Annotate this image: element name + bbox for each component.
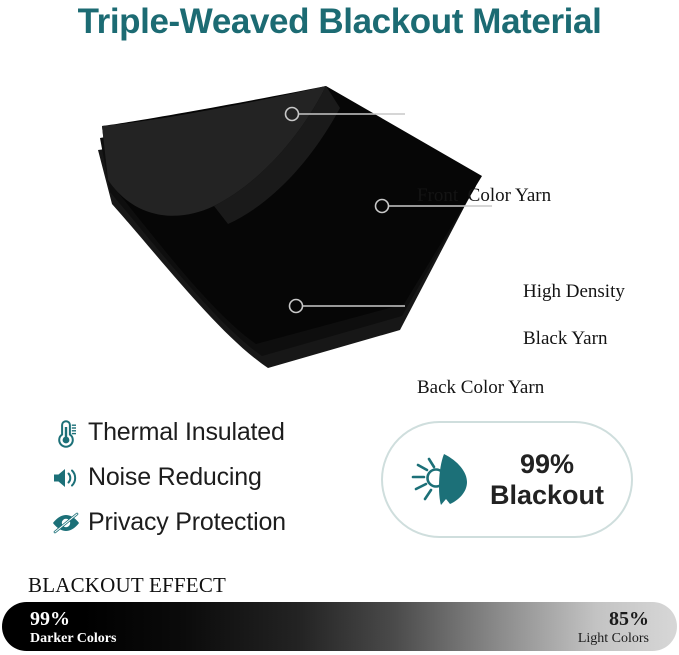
thermometer-icon bbox=[44, 418, 88, 448]
fabric-diagram: Front Color Yarn High Density Black Yarn… bbox=[0, 78, 679, 368]
blackout-badge-text: 99% Blackout bbox=[490, 449, 604, 509]
feature-label-noise-reducing: Noise Reducing bbox=[88, 463, 262, 492]
feature-list: Thermal Insulated Noise Reducing Privacy… bbox=[44, 410, 364, 545]
gradient-bar-left-readout: 99% Darker Colors bbox=[30, 609, 116, 646]
gradient-left-label: Darker Colors bbox=[30, 632, 116, 646]
blackout-badge-label: Blackout bbox=[490, 480, 604, 510]
blackout-badge: 99% Blackout bbox=[381, 421, 633, 538]
gradient-bar-right-readout: 85% Light Colors bbox=[578, 609, 649, 646]
label-back-color-yarn: Back Color Yarn bbox=[417, 376, 544, 400]
gradient-right-percent: 85% bbox=[578, 609, 649, 629]
feature-label-thermal-insulated: Thermal Insulated bbox=[88, 418, 285, 447]
gradient-left-percent: 99% bbox=[30, 609, 116, 629]
blackout-badge-percent: 99% bbox=[520, 449, 574, 479]
gradient-right-label: Light Colors bbox=[578, 632, 649, 646]
blackout-effect-gradient-bar: 99% Darker Colors 85% Light Colors bbox=[2, 602, 677, 651]
label-high-density-line2: Black Yarn bbox=[523, 328, 607, 349]
blackout-effect-heading: BLACKOUT EFFECT bbox=[28, 573, 226, 598]
eye-slash-icon bbox=[44, 510, 88, 536]
page-title: Triple-Weaved Blackout Material bbox=[0, 2, 679, 42]
feature-item-thermal-insulated: Thermal Insulated bbox=[44, 410, 364, 455]
sun-blocked-icon bbox=[410, 449, 476, 511]
feature-item-noise-reducing: Noise Reducing bbox=[44, 455, 364, 500]
label-high-density-line1: High Density bbox=[523, 281, 625, 302]
feature-label-privacy-protection: Privacy Protection bbox=[88, 508, 286, 537]
speaker-icon bbox=[44, 465, 88, 491]
label-front-color-yarn: Front Color Yarn bbox=[417, 184, 551, 208]
label-high-density-black-yarn: High Density Black Yarn bbox=[504, 256, 625, 375]
feature-item-privacy-protection: Privacy Protection bbox=[44, 500, 364, 545]
